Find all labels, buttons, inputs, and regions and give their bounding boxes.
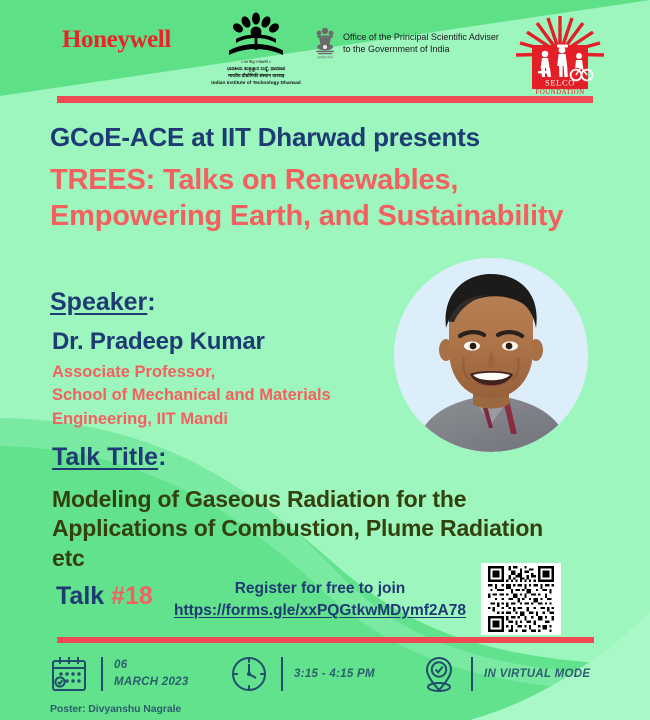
psa-office-text: Office of the Principal Scientific Advis… bbox=[343, 31, 499, 55]
footer-divider-2 bbox=[281, 657, 283, 691]
speaker-portrait-image bbox=[394, 258, 588, 452]
psa-office-logo: सत्यमेव जयते Office of the Principal Sci… bbox=[313, 26, 499, 60]
footer-mode-text: IN VIRTUAL MODE bbox=[484, 666, 590, 683]
qr-code[interactable] bbox=[481, 563, 561, 635]
presents-line: GCoE-ACE at IIT Dharwad presents bbox=[50, 122, 480, 153]
speaker-label: Speaker: bbox=[50, 288, 156, 317]
footer-date-item: 06 MARCH 2023 bbox=[48, 648, 189, 700]
footer-date-month-year: MARCH 2023 bbox=[114, 676, 189, 688]
talk-title-label-colon: : bbox=[158, 443, 166, 471]
speaker-label-text: Speaker bbox=[50, 288, 147, 316]
clock-icon-glyph bbox=[228, 653, 270, 695]
register-prompt: Register for free to join bbox=[170, 578, 470, 600]
registration-block: Register for free to join https://forms.… bbox=[170, 578, 470, 621]
talk-title-label: Talk Title: bbox=[52, 443, 166, 472]
footer-bar: 06 MARCH 2023 bbox=[0, 648, 650, 704]
iit-dharwad-hindi-name: भारतीय प्रौद्योगिकी संस्थान धारवाड़ bbox=[196, 72, 316, 79]
iit-dharwad-english-name: Indian Institute of Technology Dharwad bbox=[196, 80, 316, 88]
talk-number-prefix: Talk bbox=[56, 582, 111, 610]
footer-date-text: 06 MARCH 2023 bbox=[114, 657, 189, 690]
header-divider-rule bbox=[57, 96, 593, 103]
register-url-link[interactable]: https://forms.gle/xxPQGtkwMDymf2A78 bbox=[170, 600, 470, 622]
footer-divider-3 bbox=[471, 657, 473, 691]
talk-number-value: #18 bbox=[111, 582, 153, 610]
poster-content: Honeywell ॥ तम सिद्ध न विद् bbox=[0, 0, 650, 720]
poster-credit: Poster: Divyanshu Nagrale bbox=[50, 703, 181, 715]
selco-wordmark: SELCO bbox=[545, 78, 575, 88]
footer-time-text: 3:15 - 4:15 PM bbox=[294, 666, 375, 683]
selco-sunburst-icon: SELCO FOUNDATION bbox=[514, 14, 606, 98]
footer-time-item: 3:15 - 4:15 PM bbox=[228, 648, 375, 700]
speaker-affiliation: Associate Professor, School of Mechanica… bbox=[52, 361, 412, 431]
india-emblem-icon: सत्यमेव जयते bbox=[313, 26, 337, 60]
calendar-icon bbox=[48, 653, 90, 695]
speaker-name: Dr. Pradeep Kumar bbox=[52, 328, 265, 356]
honeywell-logo: Honeywell bbox=[62, 26, 171, 54]
talk-title-label-text: Talk Title bbox=[52, 443, 158, 471]
footer-divider-rule bbox=[57, 637, 594, 643]
footer-mode-item: IN VIRTUAL MODE bbox=[418, 648, 590, 700]
iit-dharwad-emblem-icon bbox=[224, 12, 288, 60]
iit-dharwad-kannada-name: ಭಾರತೀಯ ತಂತ್ರಜ್ಞಾನ ಸಂಸ್ಥೆ, ಧಾರವಾಡ bbox=[196, 65, 316, 72]
location-pin-icon bbox=[418, 653, 460, 695]
calendar-icon-glyph bbox=[48, 653, 90, 695]
speaker-photo bbox=[394, 258, 588, 452]
footer-date-day: 06 bbox=[114, 659, 127, 671]
svg-text:सत्यमेव जयते: सत्यमेव जयते bbox=[317, 56, 333, 60]
iit-dharwad-logo: ॥ तम सिद्ध न विद्यानेते ॥ ಭಾರತೀಯ ತಂತ್ರಜ್… bbox=[196, 12, 316, 88]
talk-number: Talk #18 bbox=[56, 582, 153, 611]
psa-office-line2: to the Government of India bbox=[343, 43, 499, 55]
poster-root: Honeywell ॥ तम सिद्ध न विद् bbox=[0, 0, 650, 720]
qr-code-image bbox=[484, 566, 558, 632]
selco-foundation-logo: SELCO FOUNDATION bbox=[514, 14, 606, 98]
location-pin-icon-glyph bbox=[418, 653, 460, 695]
clock-icon bbox=[228, 653, 270, 695]
psa-office-line1: Office of the Principal Scientific Advis… bbox=[343, 31, 499, 43]
footer-divider-1 bbox=[101, 657, 103, 691]
selco-foundation-word: FOUNDATION bbox=[535, 88, 584, 96]
talk-title: Modeling of Gaseous Radiation for the Ap… bbox=[52, 485, 562, 573]
speaker-label-colon: : bbox=[147, 288, 155, 316]
logo-row: Honeywell ॥ तम सिद्ध न विद् bbox=[0, 0, 650, 110]
event-series-title: TREES: Talks on Renewables, Empowering E… bbox=[50, 163, 610, 235]
